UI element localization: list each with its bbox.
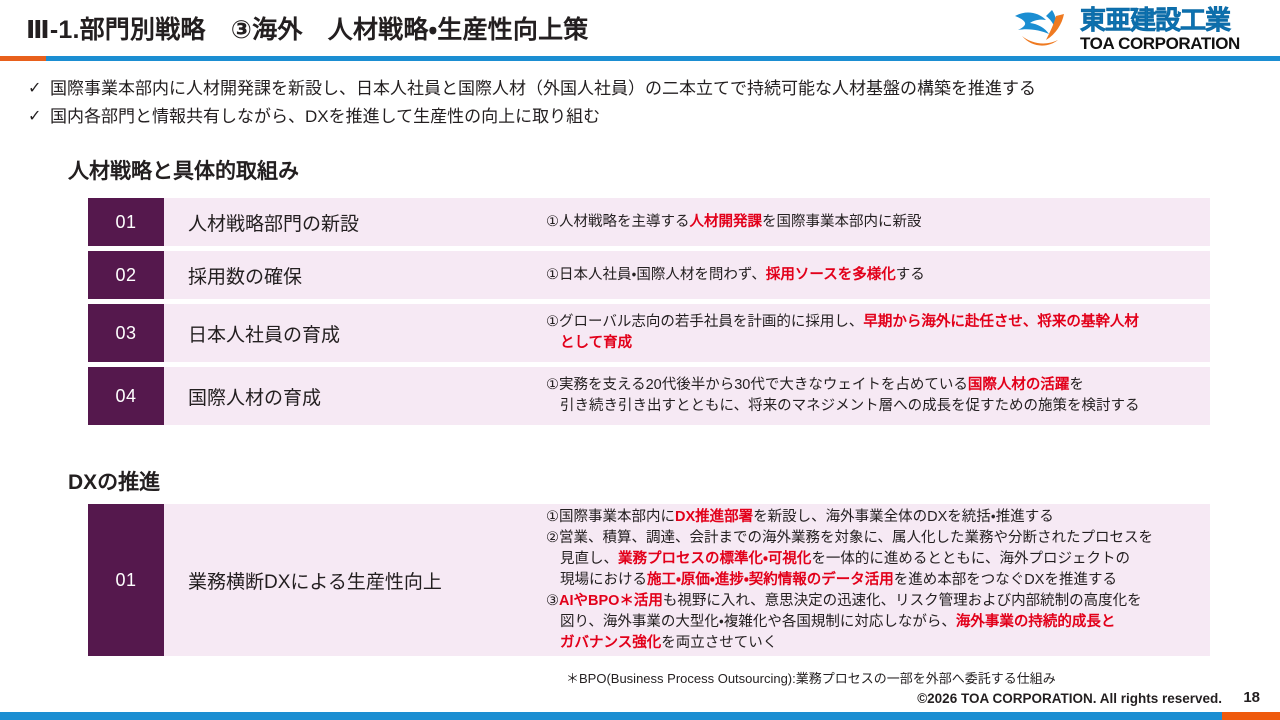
row-title: 国際人材の育成 xyxy=(164,367,546,425)
detail-line: ①実務を支える20代後半から30代で大きなウェイトを占めている国際人材の活躍を xyxy=(546,375,1200,396)
row-number-badge: 02 xyxy=(88,251,164,299)
detail-line: 引き続き引き出すとともに、将来のマネジメント層への成長を促すための施策を検討する xyxy=(546,396,1200,417)
detail-line: ①人材戦略を主導する人材開発課を国際事業本部内に新設 xyxy=(546,212,1200,233)
detail-line: ①グローバル志向の若手社員を計画的に採用し、早期から海外に赴任させ、将来の基幹人… xyxy=(546,312,1200,333)
logo-wordmark: 東亜建設工業 TOA CORPORATION xyxy=(1080,7,1240,52)
detail-line: ①日本人社員・国際人材を問わず、採用ソースを多様化する xyxy=(546,265,1200,286)
row-title: 採用数の確保 xyxy=(164,251,546,299)
row-detail: ①実務を支える20代後半から30代で大きなウェイトを占めている国際人材の活躍を引… xyxy=(546,367,1210,425)
row-detail: ①国際事業本部内にDX推進部署を新設し、海外事業全体のDXを統括・推進する②営業… xyxy=(546,504,1210,656)
highlighted-keyword: 採用ソースを多様化 xyxy=(766,267,896,283)
row-title: 人材戦略部門の新設 xyxy=(164,198,546,246)
detail-line: として育成 xyxy=(546,333,1200,354)
section-heading-talent: 人材戦略と具体的取組み xyxy=(68,155,299,185)
detail-text: ③ xyxy=(546,593,559,609)
detail-text: 現場における xyxy=(560,572,647,588)
row-title: 業務横断DXによる生産性向上 xyxy=(164,504,546,656)
check-icon: ✓ xyxy=(28,104,50,130)
row-number-badge: 03 xyxy=(88,304,164,362)
footer-accent-rule xyxy=(0,712,1280,720)
detail-line: 現場における施工・原価・進捗・契約情報のデータ活用を進め本部をつなぐDXを推進す… xyxy=(546,570,1200,591)
row-number-badge: 04 xyxy=(88,367,164,425)
logo-english-name: TOA CORPORATION xyxy=(1080,35,1240,52)
detail-line: 見直し、業務プロセスの標準化・可視化を一体的に進めるとともに、海外プロジェクトの xyxy=(546,549,1200,570)
check-icon: ✓ xyxy=(28,76,50,102)
table-row: 01人材戦略部門の新設①人材戦略を主導する人材開発課を国際事業本部内に新設 xyxy=(88,198,1210,246)
copyright-text: ©2026 TOA CORPORATION. All rights reserv… xyxy=(917,691,1222,706)
row-detail: ①日本人社員・国際人材を問わず、採用ソースを多様化する xyxy=(546,251,1210,299)
detail-text: を国際事業本部内に新設 xyxy=(762,214,922,230)
footer-rule-blue-segment xyxy=(0,712,1222,720)
detail-text: 見直し、 xyxy=(560,551,618,567)
detail-text: ①実務を支える20代後半から30代で大きなウェイトを占めている xyxy=(546,377,968,393)
dx-promotion-table: 01業務横断DXによる生産性向上①国際事業本部内にDX推進部署を新設し、海外事業… xyxy=(88,504,1210,661)
page-title: Ⅲ-1.部門別戦略 ③海外 人材戦略・生産性向上策 xyxy=(26,10,588,46)
row-detail: ①グローバル志向の若手社員を計画的に採用し、早期から海外に赴任させ、将来の基幹人… xyxy=(546,304,1210,362)
company-logo: 東亜建設工業 TOA CORPORATION xyxy=(1012,4,1264,54)
highlighted-keyword: DX推進部署 xyxy=(675,509,753,525)
header-rule-orange-segment xyxy=(0,56,46,61)
highlighted-keyword: AIやBPO＊活用 xyxy=(559,593,663,609)
highlighted-keyword: 海外事業の持続的成長と xyxy=(956,614,1116,630)
detail-text: する xyxy=(896,267,925,283)
detail-line: ③AIやBPO＊活用も視野に入れ、意思決定の迅速化、リスク管理および内部統制の高… xyxy=(546,591,1200,612)
detail-text: 引き続き引き出すとともに、将来のマネジメント層への成長を促すための施策を検討する xyxy=(560,398,1140,414)
detail-text: 図り、海外事業の大型化・複雑化や各国規制に対応しながら、 xyxy=(560,614,956,630)
highlighted-keyword: 国際人材の活躍 xyxy=(968,377,1070,393)
bullet-item: ✓国際事業本部内に人材開発課を新設し、日本人社員と国際人材（外国人社員）の二本立… xyxy=(28,76,1260,102)
detail-line: 図り、海外事業の大型化・複雑化や各国規制に対応しながら、海外事業の持続的成長と xyxy=(546,612,1200,633)
row-title: 日本人社員の育成 xyxy=(164,304,546,362)
detail-line: ②営業、積算、調達、会計までの海外業務を対象に、属人化した業務や分断されたプロセ… xyxy=(546,528,1200,549)
table-row: 03日本人社員の育成①グローバル志向の若手社員を計画的に採用し、早期から海外に赴… xyxy=(88,304,1210,362)
highlighted-keyword: 早期から海外に赴任させ、将来の基幹人材 xyxy=(863,314,1139,330)
detail-text: を進め本部をつなぐDXを推進する xyxy=(894,572,1117,588)
bullet-text: 国内各部門と情報共有しながら、DXを推進して生産性の向上に取り組む xyxy=(50,104,600,130)
table-row: 02採用数の確保①日本人社員・国際人材を問わず、採用ソースを多様化する xyxy=(88,251,1210,299)
detail-text: ②営業、積算、調達、会計までの海外業務を対象に、属人化した業務や分断されたプロセ… xyxy=(546,530,1153,546)
bullet-item: ✓国内各部門と情報共有しながら、DXを推進して生産性の向上に取り組む xyxy=(28,104,1260,130)
section-heading-dx: DXの推進 xyxy=(68,466,160,496)
highlighted-keyword: 人材開発課 xyxy=(690,214,763,230)
highlighted-keyword: 施工・原価・進捗・契約情報のデータ活用 xyxy=(647,572,894,588)
detail-text: ①人材戦略を主導する xyxy=(546,214,690,230)
detail-text: も視野に入れ、意思決定の迅速化、リスク管理および内部統制の高度化を xyxy=(663,593,1142,609)
table-row: 04国際人材の育成①実務を支える20代後半から30代で大きなウェイトを占めている… xyxy=(88,367,1210,425)
header-rule-blue-segment xyxy=(46,56,1280,61)
detail-text: ①グローバル志向の若手社員を計画的に採用し、 xyxy=(546,314,863,330)
detail-text: を両立させていく xyxy=(661,635,777,651)
highlighted-keyword: 業務プロセスの標準化・可視化 xyxy=(618,551,811,567)
detail-text: を一体的に進めるとともに、海外プロジェクトの xyxy=(811,551,1130,567)
bullet-text: 国際事業本部内に人材開発課を新設し、日本人社員と国際人材（外国人社員）の二本立て… xyxy=(50,76,1036,102)
table-row: 01業務横断DXによる生産性向上①国際事業本部内にDX推進部署を新設し、海外事業… xyxy=(88,504,1210,656)
detail-text: ①日本人社員・国際人材を問わず、 xyxy=(546,267,766,283)
slide-header: Ⅲ-1.部門別戦略 ③海外 人材戦略・生産性向上策 東亜建設工業 TOA COR… xyxy=(0,0,1280,58)
detail-text: を新設し、海外事業全体のDXを統括・推進する xyxy=(753,509,1054,525)
row-detail: ①人材戦略を主導する人材開発課を国際事業本部内に新設 xyxy=(546,198,1210,246)
highlighted-keyword: ガバナンス強化 xyxy=(560,635,661,651)
footer-rule-orange-segment xyxy=(1222,712,1280,720)
page-number: 18 xyxy=(1243,689,1260,706)
bpo-footnote: ＊BPO(Business Process Outsourcing):業務プロセ… xyxy=(566,668,1056,687)
highlighted-keyword: として育成 xyxy=(560,335,632,351)
summary-bullet-list: ✓国際事業本部内に人材開発課を新設し、日本人社員と国際人材（外国人社員）の二本立… xyxy=(28,76,1260,132)
row-number-badge: 01 xyxy=(88,198,164,246)
logo-japanese-name: 東亜建設工業 xyxy=(1080,7,1240,33)
detail-text: を xyxy=(1069,377,1084,393)
row-number-badge: 01 xyxy=(88,504,164,656)
talent-strategy-table: 01人材戦略部門の新設①人材戦略を主導する人材開発課を国際事業本部内に新設02採… xyxy=(88,198,1210,430)
toa-bird-logo-icon xyxy=(1012,6,1074,52)
detail-text: ①国際事業本部内に xyxy=(546,509,675,525)
detail-line: ①国際事業本部内にDX推進部署を新設し、海外事業全体のDXを統括・推進する xyxy=(546,507,1200,528)
header-accent-rule xyxy=(0,56,1280,61)
detail-line: ガバナンス強化を両立させていく xyxy=(546,633,1200,654)
